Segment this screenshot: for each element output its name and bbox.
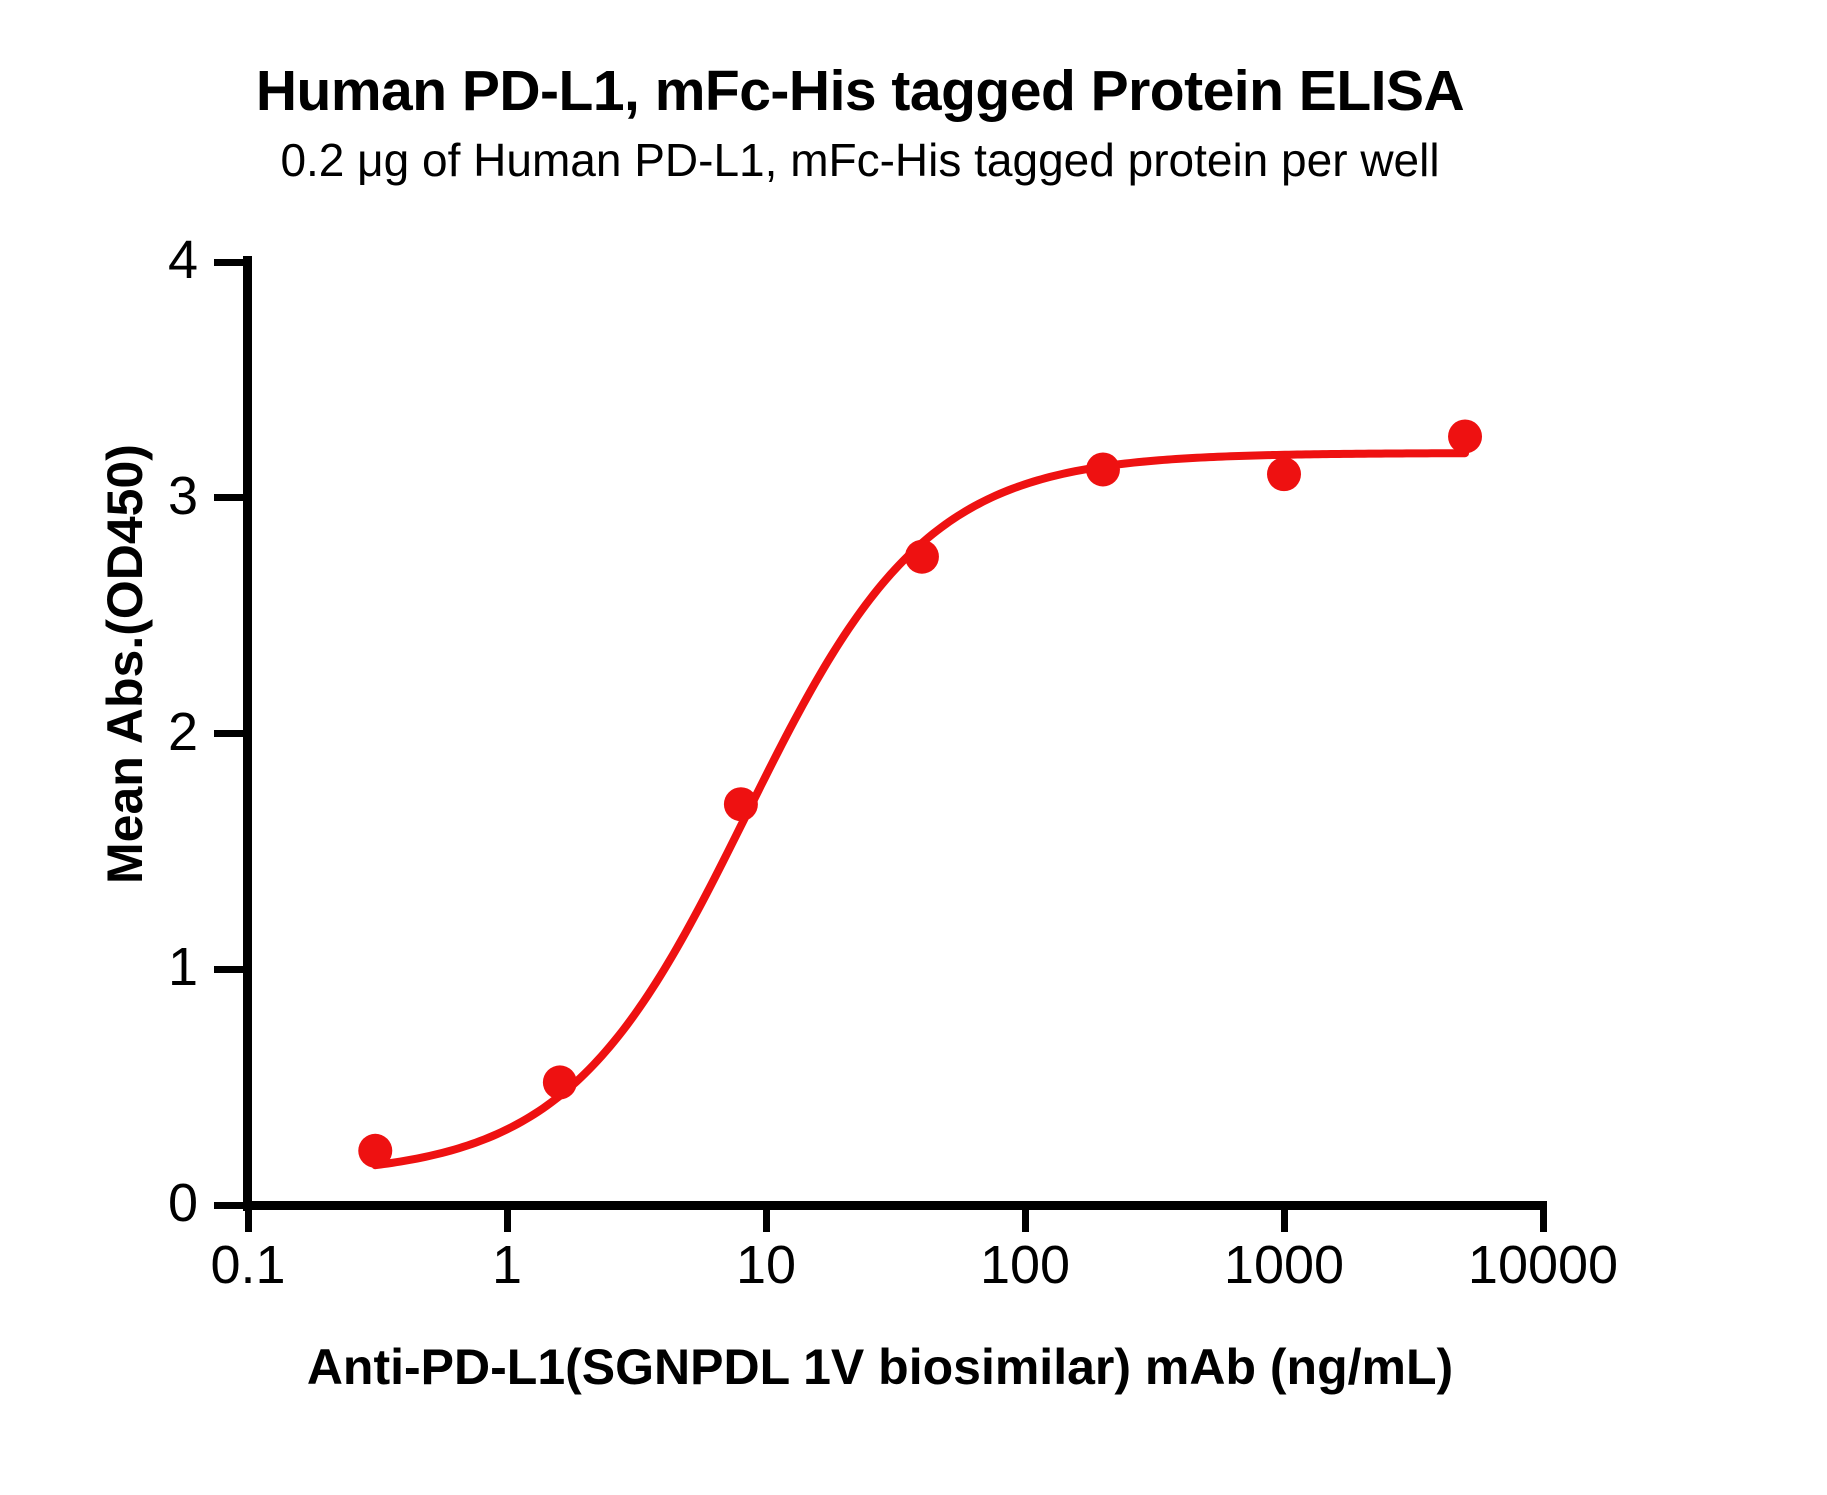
x-axis-title: Anti-PD-L1(SGNPDL 1V biosimilar) mAb (ng… — [120, 1338, 1640, 1396]
y-axis-tick-label: 1 — [78, 940, 198, 994]
data-point — [724, 787, 758, 821]
y-axis-tick-label: 2 — [78, 705, 198, 759]
x-axis-tick-label: 100 — [875, 1238, 1175, 1292]
y-axis-tick — [214, 966, 248, 973]
data-point-markers — [358, 419, 1482, 1167]
y-axis-tick-label: 0 — [78, 1176, 198, 1230]
x-axis-line — [243, 1201, 1547, 1210]
fit-curve — [375, 453, 1465, 1165]
data-point — [358, 1134, 392, 1168]
y-axis-tick — [214, 1202, 248, 1209]
data-point — [1448, 419, 1482, 453]
x-axis-tick — [763, 1202, 770, 1232]
x-axis-tick — [1540, 1202, 1547, 1232]
x-axis-tick — [245, 1202, 252, 1232]
elisa-binding-chart: Human PD-L1, mFc-His tagged Protein ELIS… — [0, 0, 1827, 1495]
y-axis-tick-label: 4 — [78, 233, 198, 287]
chart-title: Human PD-L1, mFc-His tagged Protein ELIS… — [0, 58, 1720, 124]
data-point — [543, 1065, 577, 1099]
y-axis-tick-label: 3 — [78, 469, 198, 523]
y-axis-title: Mean Abs.(OD450) — [96, 354, 154, 974]
x-axis-tick — [1281, 1202, 1288, 1232]
data-point — [1267, 457, 1301, 491]
data-point — [1086, 452, 1120, 486]
x-axis-tick-label: 1000 — [1134, 1238, 1434, 1292]
x-axis-tick — [1022, 1202, 1029, 1232]
y-axis-tick — [214, 259, 248, 266]
y-axis-tick — [214, 730, 248, 737]
x-axis-tick-label: 10 — [616, 1238, 916, 1292]
x-axis-tick-label: 0.1 — [98, 1238, 398, 1292]
y-axis-tick — [214, 494, 248, 501]
data-point — [905, 540, 939, 574]
x-axis-tick-label: 10000 — [1393, 1238, 1693, 1292]
x-axis-tick — [504, 1202, 511, 1232]
x-axis-tick-label: 1 — [357, 1238, 657, 1292]
chart-subtitle: 0.2 μg of Human PD-L1, mFc-His tagged pr… — [0, 133, 1720, 187]
